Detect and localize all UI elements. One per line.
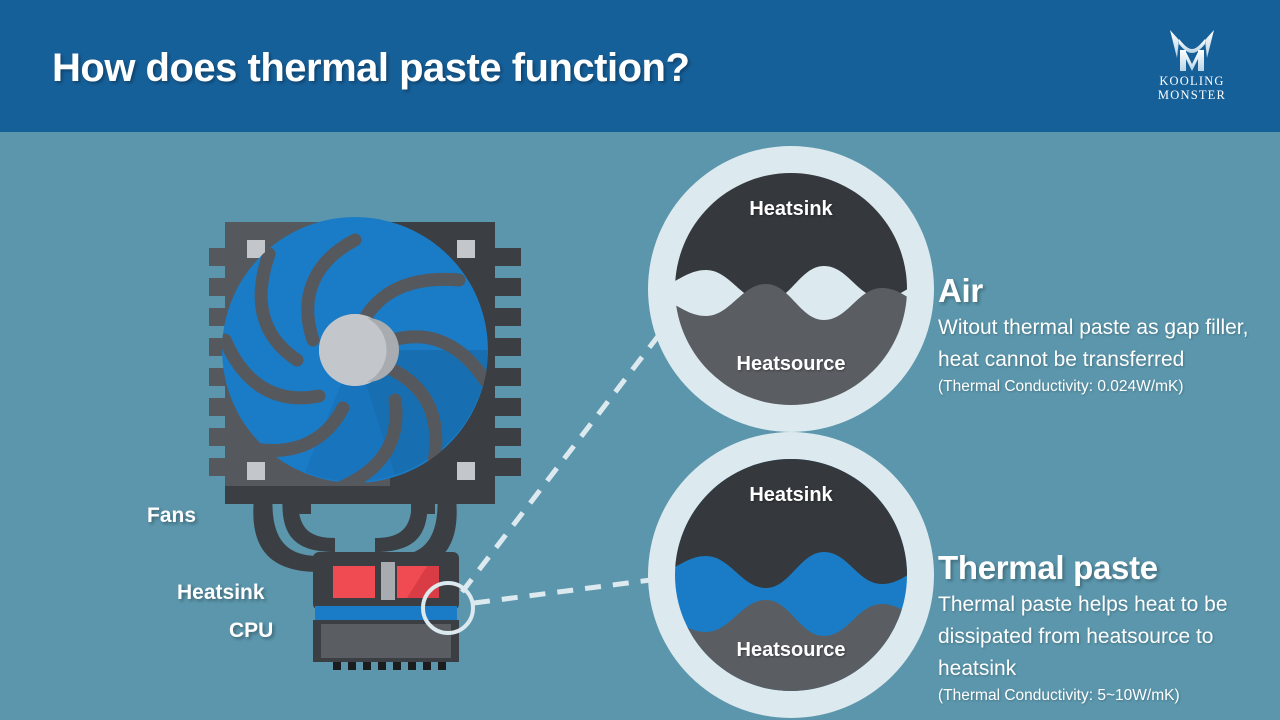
info-title-paste: Thermal paste: [938, 549, 1268, 587]
label-fans: Fans: [147, 504, 196, 528]
heatsink-fins-right: [495, 248, 521, 476]
label-heatsink: Heatsink: [177, 581, 265, 605]
info-body-paste: Thermal paste helps heat to be dissipate…: [938, 589, 1268, 685]
info-title-air: Air: [938, 272, 1268, 310]
info-block-air: Air Witout thermal paste as gap filler, …: [938, 272, 1268, 397]
info-block-thermal-paste: Thermal paste Thermal paste helps heat t…: [938, 549, 1268, 706]
thermal-paste-diagram: Heatsink Heatsource: [648, 432, 934, 718]
infographic-slide: How does thermal paste function? KOOLING…: [0, 0, 1280, 720]
info-note-paste: (Thermal Conductivity: 5~10W/mK): [938, 686, 1268, 706]
label-cpu: CPU: [229, 619, 273, 643]
air-gap-diagram: Heatsink Heatsource: [648, 146, 934, 432]
mount-tab: [381, 562, 395, 600]
accent-red-left: [333, 566, 375, 598]
info-body-air: Witout thermal paste as gap filler, heat…: [938, 312, 1268, 376]
cpu-pins: [333, 662, 446, 670]
info-note-air: (Thermal Conductivity: 0.024W/mK): [938, 377, 1268, 397]
cpu-zoom-highlight-ring: [421, 581, 475, 635]
